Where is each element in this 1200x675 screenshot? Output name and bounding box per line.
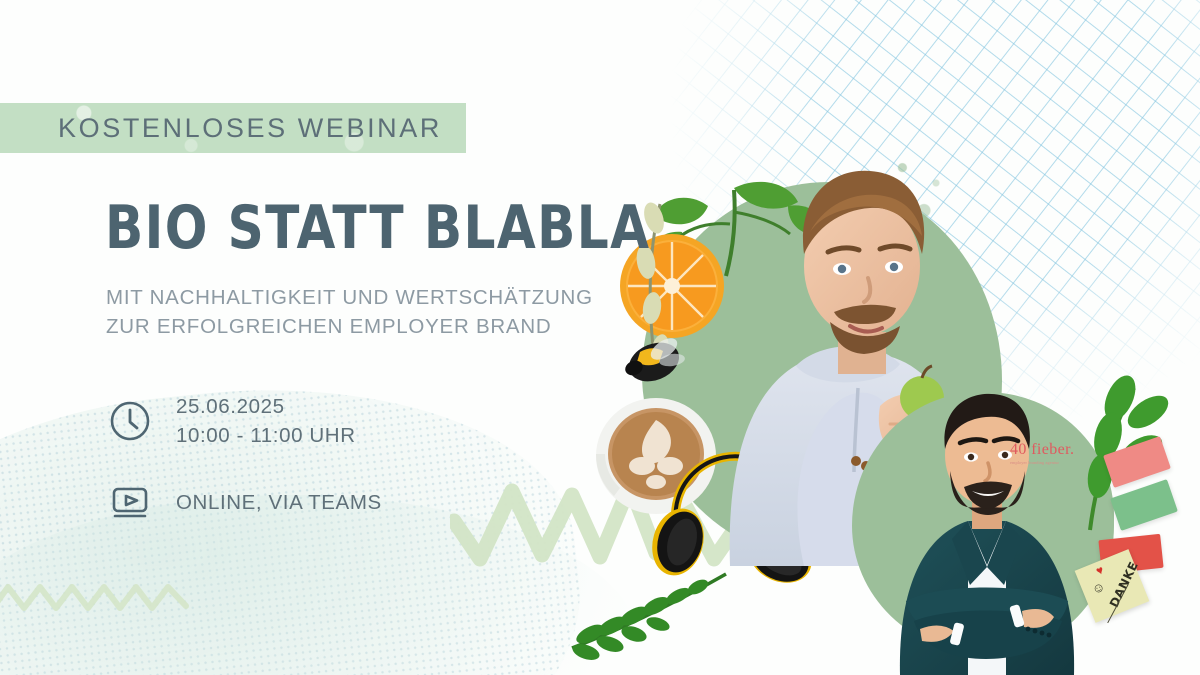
- subtitle-line-1: MIT NACHHALTIGKEIT UND WERTSCHÄTZUNG: [106, 283, 593, 312]
- event-details: 25.06.2025 10:00 - 11:00 UHR ONLINE, VIA…: [108, 392, 382, 524]
- sticky-note-text: DANKE: [1107, 559, 1141, 609]
- subtitle: MIT NACHHALTIGKEIT UND WERTSCHÄTZUNG ZUR…: [106, 283, 593, 341]
- heart-icon: ♥: [1094, 564, 1105, 578]
- eyebrow-ribbon: KOSTENLOSES WEBINAR: [0, 103, 466, 153]
- event-location-text: ONLINE, VIA TEAMS: [176, 488, 382, 517]
- event-date: 25.06.2025: [176, 392, 356, 421]
- event-datetime-row: 25.06.2025 10:00 - 11:00 UHR: [108, 392, 382, 450]
- fern-frond-icon: [566, 560, 736, 660]
- smiley-face-icon: ☺: [1089, 578, 1107, 597]
- subtitle-line-2: ZUR ERFOLGREICHEN EMPLOYER BRAND: [106, 312, 593, 341]
- video-monitor-icon: [108, 480, 152, 524]
- event-location-row: ONLINE, VIA TEAMS: [108, 480, 382, 524]
- webinar-promo-banner: MOIN: [0, 0, 1200, 675]
- portrait-suit-man: [872, 375, 1102, 675]
- brand-logo-mark: 40 fieber.: [1010, 442, 1102, 458]
- eyebrow-label: KOSTENLOSES WEBINAR: [58, 113, 442, 144]
- zigzag-brush-stroke-small: [0, 578, 205, 616]
- page-title: BIO STATT BLABLA: [105, 198, 650, 258]
- clock-icon: [108, 399, 152, 443]
- event-datetime-text: 25.06.2025 10:00 - 11:00 UHR: [176, 392, 356, 450]
- brand-logo-tagline: employer branding agentur: [1010, 460, 1102, 465]
- photo-collage: MOIN: [580, 0, 1200, 675]
- brand-logo-40fieber: 40 fieber. employer branding agentur: [1010, 442, 1102, 465]
- event-time: 10:00 - 11:00 UHR: [176, 421, 356, 450]
